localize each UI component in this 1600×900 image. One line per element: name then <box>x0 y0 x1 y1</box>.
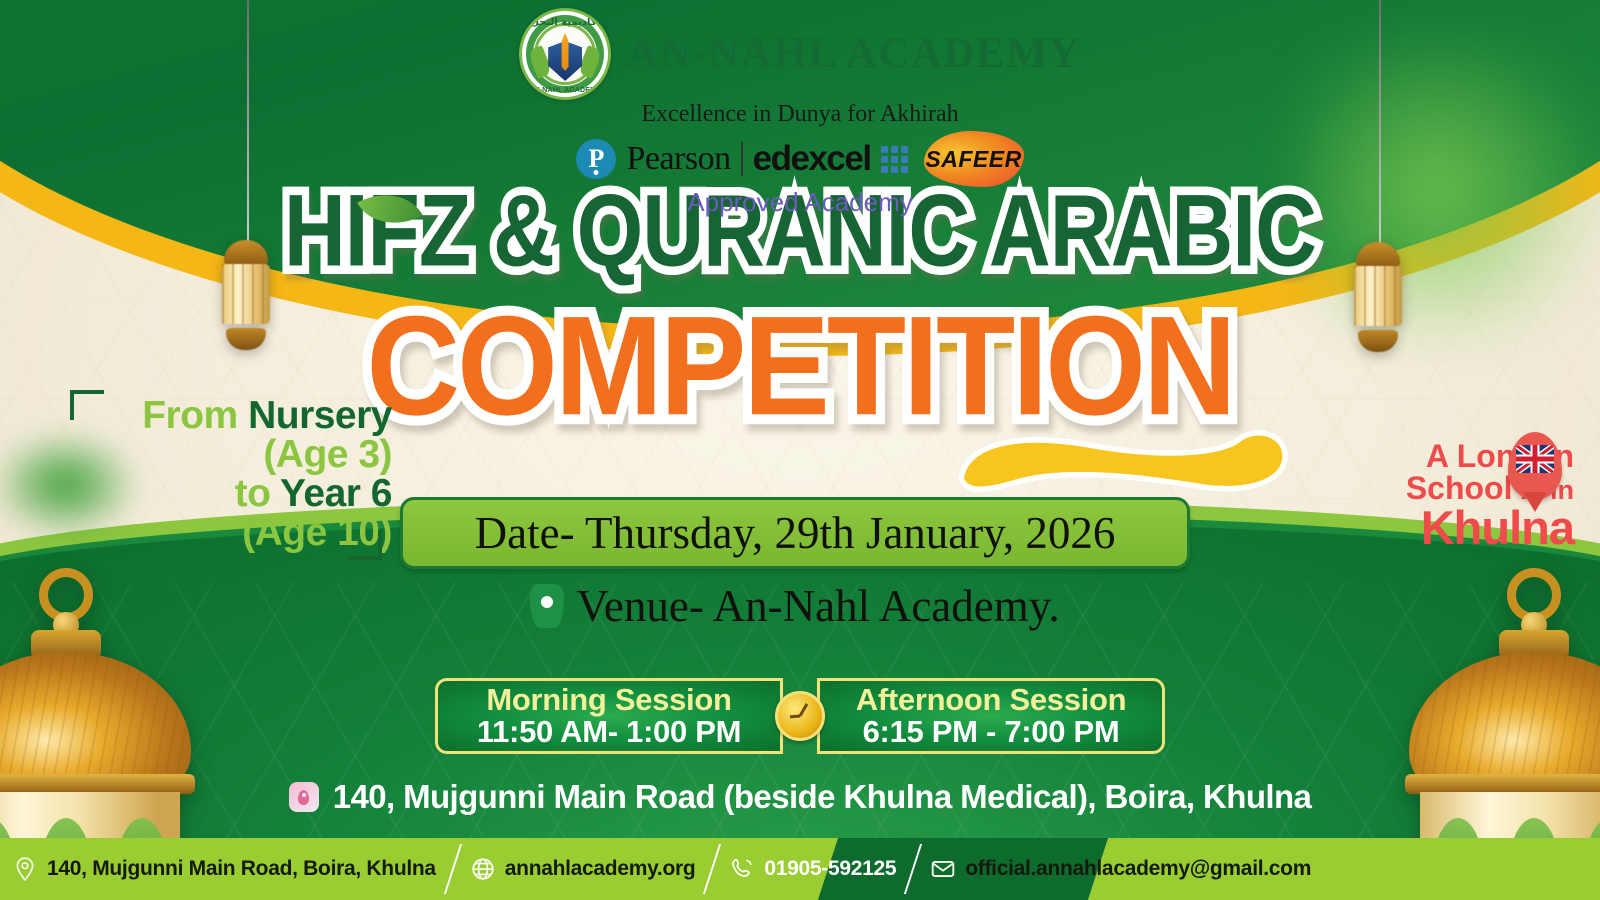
footer-website-text: annahlacademy.org <box>505 857 696 881</box>
morning-session-box: Morning Session 11:50 AM- 1:00 PM <box>435 678 783 754</box>
safeer-logo: SAFEER <box>924 131 1024 187</box>
footer-separator <box>904 844 922 894</box>
event-poster: أكاديمية النحل AN-NAHL ACADEMY AN-NAHL A… <box>0 0 1600 900</box>
bracket-top-left <box>70 390 104 420</box>
afternoon-session-box: Afternoon Session 6:15 PM - 7:00 PM <box>817 678 1165 754</box>
session-boxes: Morning Session 11:50 AM- 1:00 PM Aftern… <box>0 678 1600 754</box>
ribbon-swash-ornament <box>940 418 1300 508</box>
edexcel-label: edexcel <box>753 139 871 179</box>
address-banner-text: 140, Mujgunni Main Road (beside Khulna M… <box>333 778 1312 816</box>
bracket-bottom-right <box>348 530 382 560</box>
footer-phone-text: 01905-592125 <box>764 857 896 881</box>
london-school-badge: A London School is in Khulna <box>1274 440 1574 551</box>
phone-icon <box>729 856 755 882</box>
venue-row: Venue- An-Nahl Academy. <box>400 580 1190 632</box>
date-banner: Date- Thursday, 29th January, 2026 <box>400 497 1190 569</box>
partner-logos: P Pearson edexcel SAFEER <box>576 131 1023 187</box>
address-banner: 140, Mujgunni Main Road (beside Khulna M… <box>0 778 1600 816</box>
partner-divider <box>741 142 743 176</box>
age-line-2: (Age 3) <box>62 435 392 474</box>
footer-address-text: 140, Mujgunni Main Road, Boira, Khulna <box>47 857 436 881</box>
academy-tagline: Excellence in Dunya for Akhirah <box>641 101 958 128</box>
age-line-1: From Nursery <box>62 396 392 435</box>
footer-email-text: official.annahlacademy@gmail.com <box>965 857 1311 881</box>
logo-arabic-text: أكاديمية النحل <box>522 17 608 28</box>
location-pin-icon <box>12 856 38 882</box>
footer-email[interactable]: official.annahlacademy@gmail.com <box>930 856 1311 882</box>
footer-address: 140, Mujgunni Main Road, Boira, Khulna <box>12 856 436 882</box>
edexcel-dots-icon <box>881 146 908 173</box>
footer-phone[interactable]: 01905-592125 <box>729 856 896 882</box>
age-line-4: (Age 10) <box>62 513 392 552</box>
envelope-icon <box>930 856 956 882</box>
location-pin-icon <box>289 782 319 812</box>
venue-label: Venue- An-Nahl Academy. <box>576 580 1059 632</box>
footer-website[interactable]: annahlacademy.org <box>470 856 696 882</box>
morning-session-time: 11:50 AM- 1:00 PM <box>477 716 741 748</box>
age-range-block: From Nursery (Age 3) to Year 6 (Age 10) <box>62 396 392 552</box>
age-nursery-label: Nursery <box>248 394 392 437</box>
academy-crest-icon: أكاديمية النحل AN-NAHL ACADEMY <box>519 8 611 100</box>
date-label: Date- Thursday, 29th January, 2026 <box>475 507 1116 559</box>
afternoon-session-time: 6:15 PM - 7:00 PM <box>863 716 1120 748</box>
morning-session-title: Morning Session <box>486 684 731 716</box>
globe-icon <box>470 856 496 882</box>
age-to-label: to <box>235 472 280 515</box>
pearson-label: Pearson <box>626 140 730 178</box>
age-from-label: From <box>142 394 248 437</box>
footer-separator <box>444 844 462 894</box>
location-pin-icon <box>530 584 564 628</box>
age-year6-label: Year 6 <box>280 472 392 515</box>
logo-bottom-text: AN-NAHL ACADEMY <box>522 87 608 94</box>
approved-academy-label: Approved Academy <box>687 187 912 218</box>
age-line-3: to Year 6 <box>62 474 392 513</box>
clock-icon <box>775 691 825 741</box>
pearson-icon: P <box>576 139 616 179</box>
academy-name: AN-NAHL ACADEMY <box>627 31 1081 76</box>
poster-header: أكاديمية النحل AN-NAHL ACADEMY AN-NAHL A… <box>0 8 1600 218</box>
footer-separator <box>703 844 721 894</box>
footer-bar: 140, Mujgunni Main Road, Boira, Khulna a… <box>0 838 1600 900</box>
afternoon-session-title: Afternoon Session <box>856 684 1126 716</box>
